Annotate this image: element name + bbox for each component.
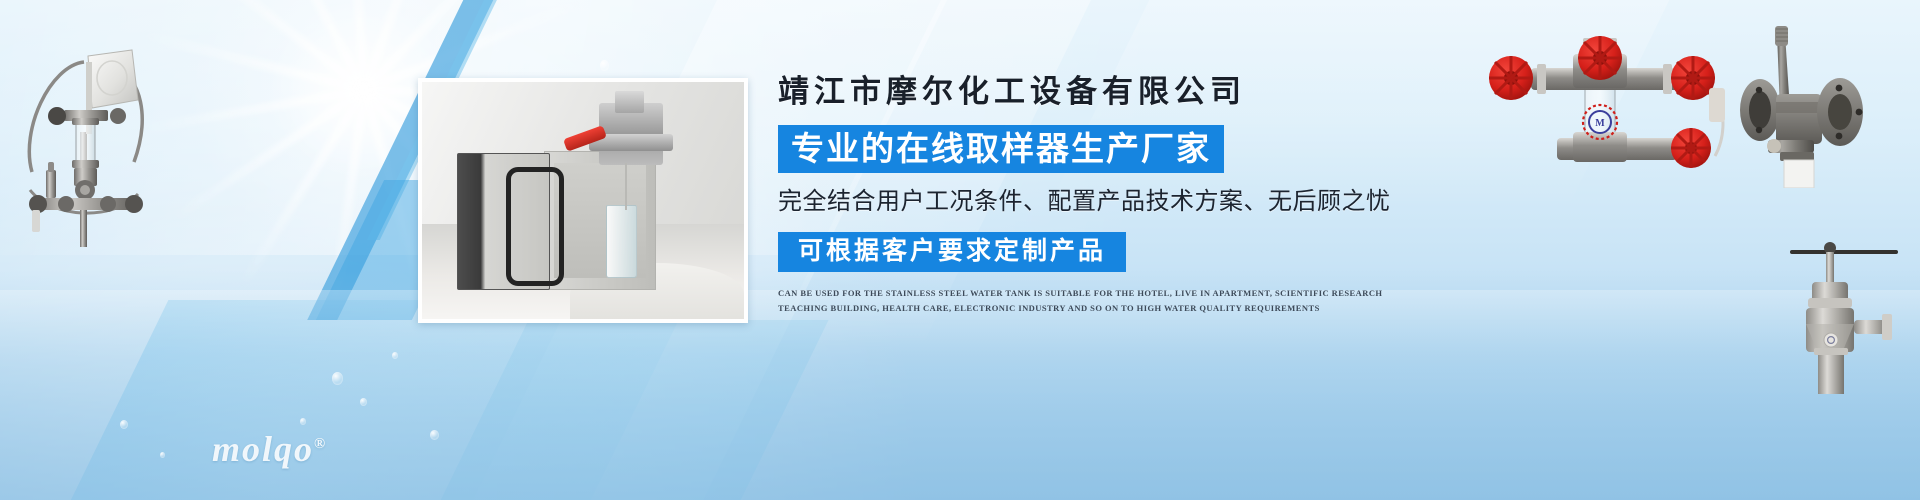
- sub-headline: 完全结合用户工况条件、配置产品技术方案、无后顾之忧: [778, 190, 1398, 214]
- water-droplet-icon: [300, 418, 306, 425]
- water-droplet-icon: [120, 420, 128, 429]
- water-droplet-icon: [160, 452, 165, 458]
- lever-valve-image: [1728, 18, 1908, 188]
- left-product-image: [2, 22, 167, 247]
- svg-text:M: M: [1595, 118, 1605, 129]
- english-caption: CAN BE USED FOR THE STAINLESS STEEL WATE…: [778, 286, 1386, 316]
- registered-mark-icon: ®: [314, 436, 327, 452]
- water-droplet-icon: [392, 352, 398, 359]
- water-droplet-icon: [600, 60, 609, 71]
- valve-manifold-image: M: [1475, 26, 1735, 171]
- water-droplet-icon: [332, 372, 343, 385]
- product-banner: M: [0, 0, 1920, 500]
- center-product-photo: [418, 78, 748, 323]
- watermark-text: molqo: [212, 429, 314, 469]
- brand-watermark: molqo®: [212, 428, 327, 470]
- banner-text-block: 靖江市摩尔化工设备有限公司 专业的在线取样器生产厂家 完全结合用户工况条件、配置…: [778, 76, 1398, 316]
- water-droplet-icon: [430, 430, 439, 440]
- company-name: 靖江市摩尔化工设备有限公司: [778, 76, 1398, 107]
- sampling-valve-image: [1782, 228, 1910, 398]
- callout-highlight: 可根据客户要求定制产品: [778, 232, 1126, 272]
- water-droplet-icon: [360, 398, 367, 406]
- headline-highlight: 专业的在线取样器生产厂家: [778, 125, 1224, 173]
